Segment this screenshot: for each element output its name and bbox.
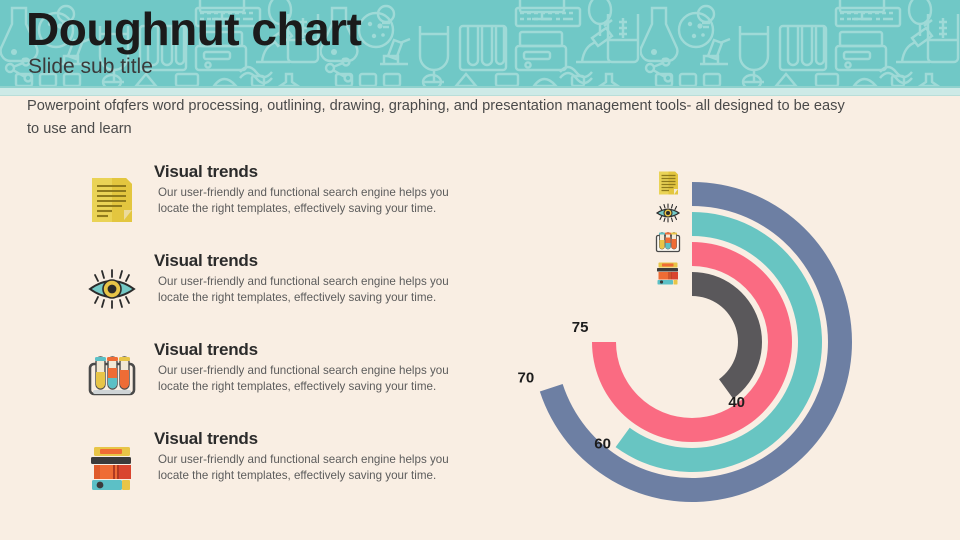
chart-label-70: 70 bbox=[518, 370, 535, 387]
list-item-description: Our user-friendly and functional search … bbox=[154, 274, 454, 307]
legend-eye-icon[interactable] bbox=[655, 200, 681, 226]
slide: Doughnut chart Slide sub title Powerpoin… bbox=[0, 0, 960, 540]
chart-legend bbox=[655, 170, 685, 290]
document-icon bbox=[86, 174, 138, 226]
books-icon bbox=[86, 441, 138, 493]
chart-label-60: 60 bbox=[594, 435, 611, 452]
list-item-body: Visual trends Our user-friendly and func… bbox=[154, 251, 454, 307]
intro-paragraph: Powerpoint ofqfers word processing, outl… bbox=[27, 95, 857, 140]
legend-document-icon[interactable] bbox=[655, 170, 681, 196]
doughnut-chart: 70607540 bbox=[500, 150, 950, 530]
page-title: Doughnut chart bbox=[26, 4, 361, 56]
list-item[interactable]: Visual trends Our user-friendly and func… bbox=[86, 340, 466, 429]
list-item-body: Visual trends Our user-friendly and func… bbox=[154, 340, 454, 396]
list-item-body: Visual trends Our user-friendly and func… bbox=[154, 162, 454, 218]
list-item-title: Visual trends bbox=[154, 340, 454, 360]
slide-header: Doughnut chart Slide sub title bbox=[0, 0, 960, 86]
list-item[interactable]: Visual trends Our user-friendly and func… bbox=[86, 429, 466, 518]
chart-label-40: 40 bbox=[728, 394, 745, 411]
eye-icon bbox=[86, 263, 138, 315]
chart-arcs bbox=[540, 182, 852, 502]
list-item-body: Visual trends Our user-friendly and func… bbox=[154, 429, 454, 485]
list-item-title: Visual trends bbox=[154, 429, 454, 449]
list-item-title: Visual trends bbox=[154, 162, 454, 182]
legend-test-tubes-icon[interactable] bbox=[655, 230, 681, 256]
test-tubes-icon bbox=[86, 352, 138, 404]
legend-books-icon[interactable] bbox=[655, 260, 681, 286]
list-item-description: Our user-friendly and functional search … bbox=[154, 185, 454, 218]
list-item-description: Our user-friendly and functional search … bbox=[154, 452, 454, 485]
list-item-description: Our user-friendly and functional search … bbox=[154, 363, 454, 396]
feature-list: Visual trends Our user-friendly and func… bbox=[86, 162, 466, 518]
list-item[interactable]: Visual trends Our user-friendly and func… bbox=[86, 162, 466, 251]
page-subtitle: Slide sub title bbox=[28, 55, 153, 79]
list-item-title: Visual trends bbox=[154, 251, 454, 271]
list-item[interactable]: Visual trends Our user-friendly and func… bbox=[86, 251, 466, 340]
chart-label-75: 75 bbox=[572, 319, 589, 336]
